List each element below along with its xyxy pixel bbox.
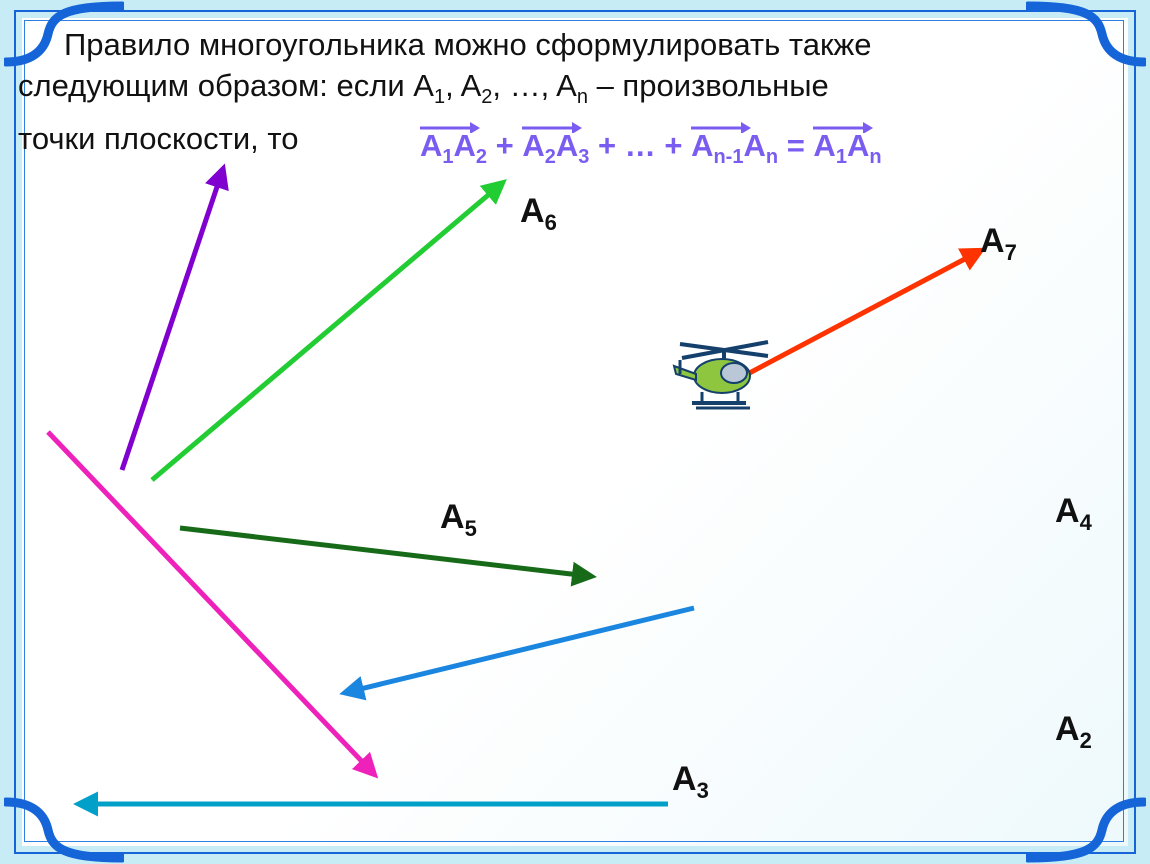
label-a2: A2 bbox=[1055, 710, 1092, 754]
label-a3: A3 bbox=[672, 760, 709, 804]
label-a6: A6 bbox=[520, 192, 557, 236]
label-a5-sub: 5 bbox=[465, 516, 477, 541]
label-a6-text: A bbox=[520, 192, 545, 230]
vector-diagram bbox=[0, 0, 1150, 864]
label-a7: A7 bbox=[980, 222, 1017, 266]
vector-darkgreen bbox=[180, 528, 588, 576]
label-a7-sub: 7 bbox=[1005, 240, 1017, 265]
label-a5: A5 bbox=[440, 498, 477, 542]
label-a2-sub: 2 bbox=[1080, 728, 1092, 753]
label-a3-text: A bbox=[672, 760, 697, 798]
vector-purple bbox=[122, 172, 222, 470]
label-a5-text: A bbox=[440, 498, 465, 536]
label-a4: A4 bbox=[1055, 492, 1092, 536]
label-a6-sub: 6 bbox=[545, 210, 557, 235]
slide-canvas: Правило многоугольника можно сформулиров… bbox=[0, 0, 1150, 864]
label-a4-sub: 4 bbox=[1080, 510, 1092, 535]
helicopter-icon bbox=[672, 330, 782, 415]
label-a4-text: A bbox=[1055, 492, 1080, 530]
label-a2-text: A bbox=[1055, 710, 1080, 748]
vector-magenta bbox=[48, 432, 372, 772]
label-a7-text: A bbox=[980, 222, 1005, 260]
label-a3-sub: 3 bbox=[697, 778, 709, 803]
vector-blue bbox=[348, 608, 694, 692]
